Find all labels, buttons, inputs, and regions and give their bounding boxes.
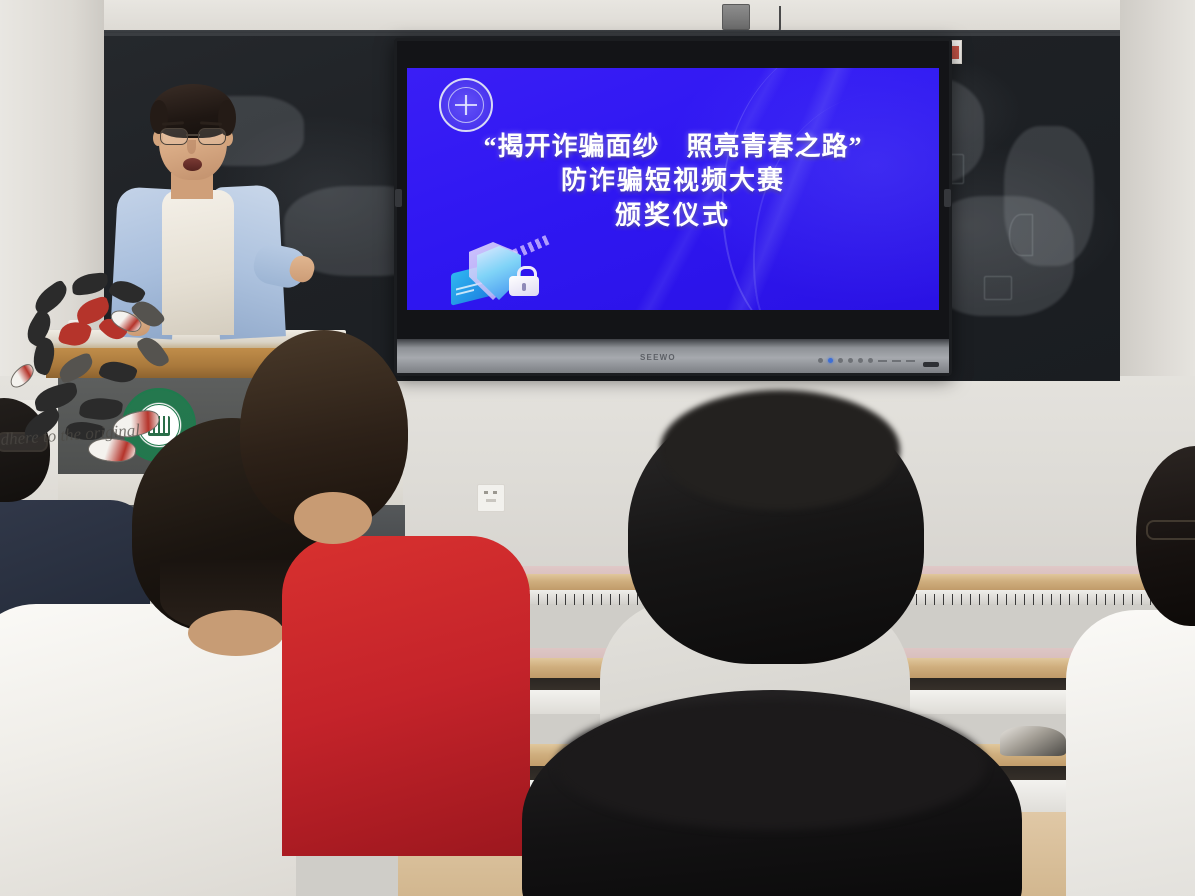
slide-title-line-3: 颁奖仪式 <box>407 198 939 234</box>
student-red-tee-neck <box>294 492 372 544</box>
wall-right <box>1120 0 1195 400</box>
display-brand-label: SEEWO <box>640 353 676 362</box>
power-outlet-icon <box>477 484 505 512</box>
slide-title-line-1: “揭开诈骗面纱 照亮青春之路” <box>407 130 939 164</box>
display-ir-sensor <box>923 362 939 367</box>
padlock-icon <box>509 266 539 296</box>
student-right-white-body <box>1066 610 1195 896</box>
presenter-inner-tshirt <box>162 190 234 335</box>
podium-microphone-icon <box>68 320 86 331</box>
classroom-photo: “揭开诈骗面纱 照亮青春之路” 防诈骗短视频大赛 颁奖仪式 SEEWO <box>0 0 1195 896</box>
student-red-tee-body <box>282 536 530 856</box>
presenter-mouth <box>183 158 202 171</box>
presentation-slide: “揭开诈骗面纱 照亮青春之路” 防诈骗短视频大赛 颁奖仪式 <box>407 68 939 310</box>
shoe-under-bench <box>1000 726 1066 756</box>
slide-title-block: “揭开诈骗面纱 照亮青春之路” 防诈骗短视频大赛 颁奖仪式 <box>407 130 939 234</box>
student-center-dark-hair-volume <box>660 390 900 510</box>
presenter-nose <box>187 140 196 154</box>
projector-mount-icon <box>722 4 750 30</box>
slide-title-line-2: 防诈骗短视频大赛 <box>407 164 939 198</box>
student-white-tee-neck <box>188 610 284 656</box>
display-control-buttons[interactable] <box>818 358 915 363</box>
presenter-left-hand <box>124 314 150 336</box>
presenter <box>104 78 314 340</box>
interactive-smart-display[interactable]: “揭开诈骗面纱 照亮青春之路” 防诈骗短视频大赛 颁奖仪式 SEEWO <box>394 38 952 376</box>
display-side-button-left[interactable] <box>395 189 402 207</box>
university-seal-icon <box>439 78 493 132</box>
display-side-button-right[interactable] <box>944 189 951 207</box>
shield-lock-creditcard-icon <box>451 240 551 310</box>
student-front-center-hair-sheen <box>556 700 986 830</box>
student-right-white-glasses-icon <box>1146 520 1195 540</box>
